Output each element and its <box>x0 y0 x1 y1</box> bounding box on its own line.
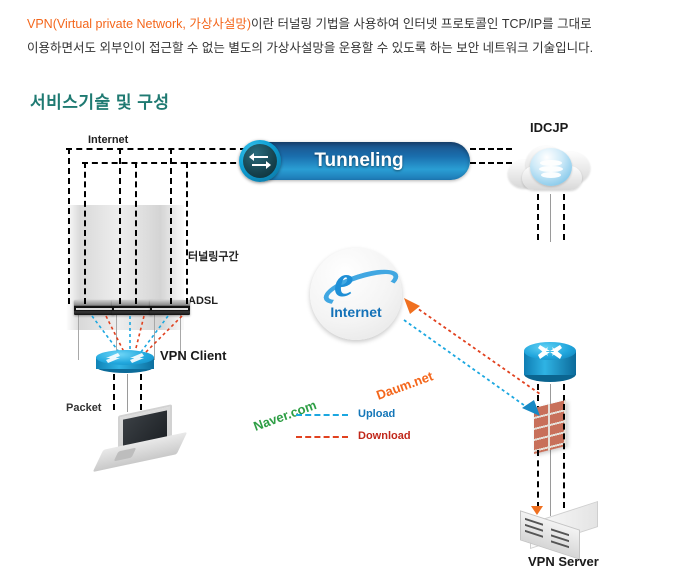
vpn-server-icon <box>520 512 606 552</box>
download-cloud-router <box>537 194 539 240</box>
upload-cloud-router <box>563 194 565 240</box>
internet-top-label: Internet <box>88 134 128 146</box>
upload-riser <box>119 148 121 304</box>
packet-label: Packet <box>66 402 101 414</box>
network-diagram: Internet 터널링구간 ADSL Tunneling <box>0 120 680 474</box>
tunnel-section-label: 터널링구간 <box>188 248 239 264</box>
internet-server-links <box>400 296 560 416</box>
download-riser <box>135 162 137 304</box>
legend-upload-swatch <box>296 414 348 416</box>
upload-riser <box>170 148 172 304</box>
intro-highlight: VPN(Virtual private Network, 가상사설망) <box>27 17 251 31</box>
vpn-client-switch-icon <box>96 350 154 374</box>
ie-logo-icon: e <box>334 260 378 304</box>
download-trunk-line <box>82 162 246 164</box>
cable-line <box>550 194 551 242</box>
upload-firewall-server <box>563 404 565 508</box>
section-title: 서비스기술 및 구성 <box>30 88 170 113</box>
upload-to-cloud-line <box>470 148 512 150</box>
idcjp-cloud-icon <box>508 142 594 192</box>
intro-line2: 이용하면서도 외부인이 접근할 수 없는 별도의 가상사설망을 운용할 수 있도… <box>27 41 593 55</box>
legend-upload-label: Upload <box>358 408 395 420</box>
download-client-laptop <box>140 374 142 410</box>
tunneling-bar: Tunneling <box>248 142 470 180</box>
upload-client-laptop <box>113 374 115 410</box>
intro-rest-line1: 이란 터널링 기법을 사용하여 인터넷 프로토콜인 TCP/IP를 그대로 <box>251 17 592 31</box>
upload-riser <box>68 148 70 304</box>
legend-download-swatch <box>296 436 348 438</box>
intro-paragraph: VPN(Virtual private Network, 가상사설망)이란 터널… <box>27 12 657 60</box>
download-riser <box>84 162 86 304</box>
internet-circle-icon: e Internet <box>310 248 402 340</box>
tunneling-label: Tunneling <box>248 150 470 172</box>
download-to-cloud-line <box>470 162 512 164</box>
vpn-client-label: VPN Client <box>160 348 226 363</box>
download-riser <box>186 162 188 304</box>
vpn-server-label: VPN Server <box>528 554 599 569</box>
bidirectional-arrows-icon <box>239 140 281 182</box>
download-firewall-server <box>537 450 539 508</box>
internet-circle-label: Internet <box>310 304 402 320</box>
adsl-label: ADSL <box>188 295 218 307</box>
legend-download-label: Download <box>358 430 411 442</box>
cable-line <box>127 374 128 412</box>
idcjp-label: IDCJP <box>530 120 568 135</box>
upload-trunk-line <box>66 148 246 150</box>
laptop-icon <box>98 410 184 466</box>
